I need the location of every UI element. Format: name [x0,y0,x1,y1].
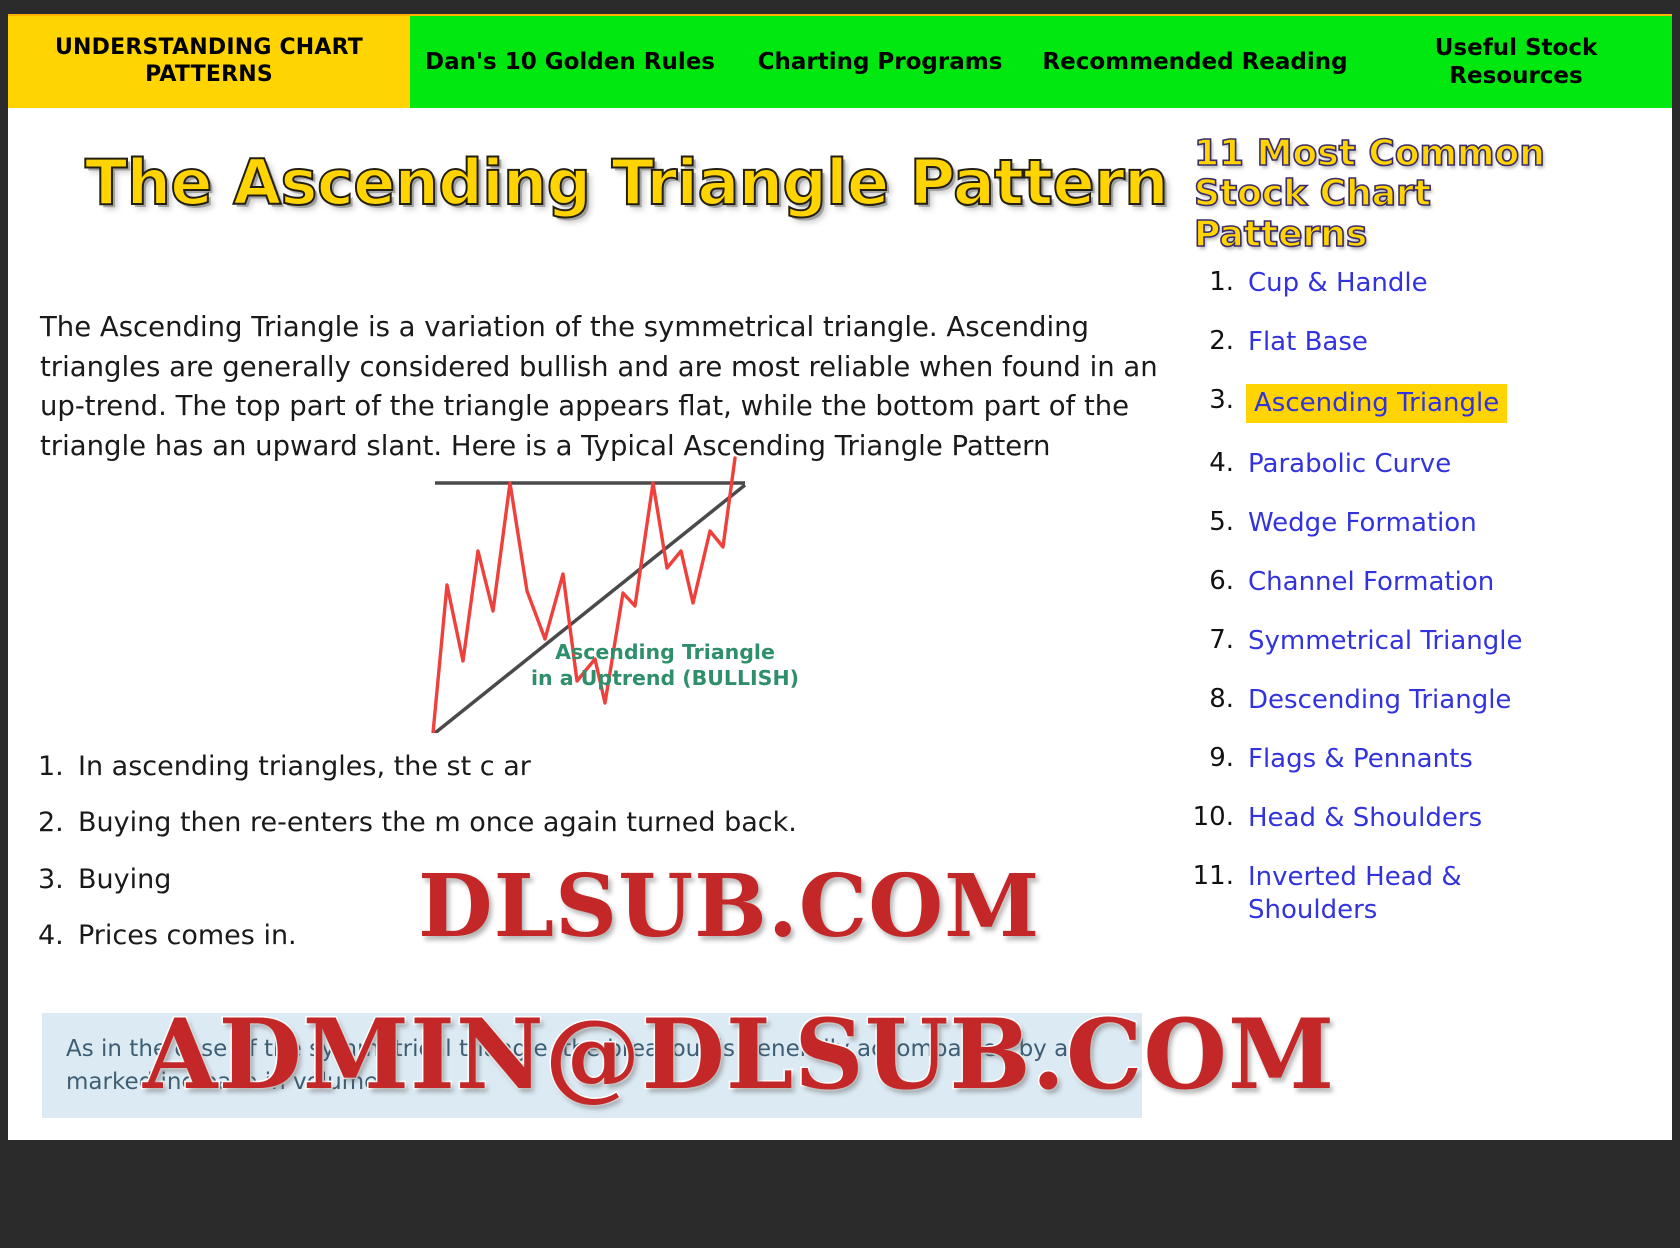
list-item-text: Buying then re-enters the m once again t… [78,804,1158,842]
list-item-text: Buying [78,861,1158,899]
list-item-number: 4. [38,917,78,955]
list-item-number: 2. [38,804,78,842]
list-item: 1. In ascending triangles, the st c ar [38,748,1158,786]
callout-text: As in the case of the symmetrical triang… [66,1036,1068,1095]
nav-item-charting-programs[interactable]: Charting Programs [730,16,1030,108]
sidebar-item-number: 1. [1190,266,1246,299]
list-item-number: 3. [38,861,78,899]
main-content: The Ascending Triangle Pattern The Ascen… [30,108,1170,1140]
sidebar-item-channel-formation[interactable]: 6. Channel Formation [1190,565,1610,600]
sidebar-item-flat-base[interactable]: 2. Flat Base [1190,325,1610,360]
support-trendline [435,485,745,733]
sidebar-item-number: 11. [1190,860,1246,893]
nav-label: Charting Programs [758,48,1003,76]
sidebar-item-flags-and-pennants[interactable]: 9. Flags & Pennants [1190,742,1610,777]
list-item-text: Prices comes in. [78,917,1158,955]
sidebar-item-number: 3. [1190,384,1246,417]
sidebar-item-label[interactable]: Head & Shoulders [1246,801,1484,836]
nav-label: Dan's 10 Golden Rules [425,48,715,76]
sidebar-item-number: 7. [1190,624,1246,657]
sidebar-item-head-and-shoulders[interactable]: 10. Head & Shoulders [1190,801,1610,836]
sidebar-item-number: 6. [1190,565,1246,598]
sidebar-item-descending-triangle[interactable]: 8. Descending Triangle [1190,683,1610,718]
ascending-triangle-chart: Ascending Triangle in a Uptrend (BULLISH… [405,443,795,733]
sidebar-item-inverted-head-and-shoulders[interactable]: 11. Inverted Head & Shoulders [1190,860,1610,927]
list-item: 4. Prices comes in. [38,917,1158,955]
sidebar-item-label[interactable]: Inverted Head & Shoulders [1246,860,1480,927]
page-root: UNDERSTANDING CHART PATTERNS Dan's 10 Go… [0,0,1680,1248]
chart-caption: Ascending Triangle in a Uptrend (BULLISH… [525,639,805,691]
sidebar-item-symmetrical-triangle[interactable]: 7. Symmetrical Triangle [1190,624,1610,659]
sidebar-item-label[interactable]: Wedge Formation [1246,506,1479,541]
sidebar-title: 11 Most Common Stock Chart Patterns [1194,134,1594,255]
nav-label: Useful Stock Resources [1368,34,1664,90]
page-title: The Ascending Triangle Pattern [85,146,1168,219]
nav-item-recommended-reading[interactable]: Recommended Reading [1030,16,1360,108]
sidebar-item-number: 4. [1190,447,1246,480]
chart-caption-line-1: Ascending Triangle [525,639,805,665]
nav-label: UNDERSTANDING CHART PATTERNS [16,35,402,89]
page-canvas: The Ascending Triangle Pattern The Ascen… [8,108,1672,1140]
list-item: 2. Buying then re-enters the m once agai… [38,804,1158,842]
sidebar-item-number: 10. [1190,801,1246,834]
nav-item-understanding-chart-patterns[interactable]: UNDERSTANDING CHART PATTERNS [8,16,410,108]
sidebar-pattern-list: 1. Cup & Handle 2. Flat Base 3. Ascendin… [1190,266,1610,952]
chart-caption-line-2: in a Uptrend (BULLISH) [525,665,805,691]
sidebar-item-label[interactable]: Symmetrical Triangle [1246,624,1524,659]
list-item: 3. Buying [38,861,1158,899]
sidebar-item-label[interactable]: Descending Triangle [1246,683,1513,718]
sidebar-item-label[interactable]: Channel Formation [1246,565,1496,600]
sidebar-item-number: 9. [1190,742,1246,775]
sidebar-item-label[interactable]: Ascending Triangle [1246,384,1507,423]
sidebar-item-number: 8. [1190,683,1246,716]
sidebar: 11 Most Common Stock Chart Patterns 1. C… [1180,108,1660,1140]
sidebar-item-label[interactable]: Parabolic Curve [1246,447,1453,482]
sidebar-item-ascending-triangle[interactable]: 3. Ascending Triangle [1190,384,1610,423]
key-points-list: 1. In ascending triangles, the st c ar 2… [38,748,1158,973]
nav-item-dans-10-golden-rules[interactable]: Dan's 10 Golden Rules [410,16,730,108]
sidebar-item-label[interactable]: Cup & Handle [1246,266,1430,301]
nav-item-useful-stock-resources[interactable]: Useful Stock Resources [1360,16,1672,108]
sidebar-item-label[interactable]: Flags & Pennants [1246,742,1475,777]
sidebar-item-number: 2. [1190,325,1246,358]
list-item-text: In ascending triangles, the st c ar [78,748,1158,786]
sidebar-item-label[interactable]: Flat Base [1246,325,1370,360]
sidebar-item-number: 5. [1190,506,1246,539]
list-item-number: 1. [38,748,78,786]
nav-label: Recommended Reading [1042,48,1347,76]
main-navigation: UNDERSTANDING CHART PATTERNS Dan's 10 Go… [8,14,1672,108]
sidebar-item-parabolic-curve[interactable]: 4. Parabolic Curve [1190,447,1610,482]
sidebar-item-wedge-formation[interactable]: 5. Wedge Formation [1190,506,1610,541]
sidebar-item-cup-and-handle[interactable]: 1. Cup & Handle [1190,266,1610,301]
price-line [433,458,735,733]
volume-callout-box: As in the case of the symmetrical triang… [42,1013,1142,1118]
